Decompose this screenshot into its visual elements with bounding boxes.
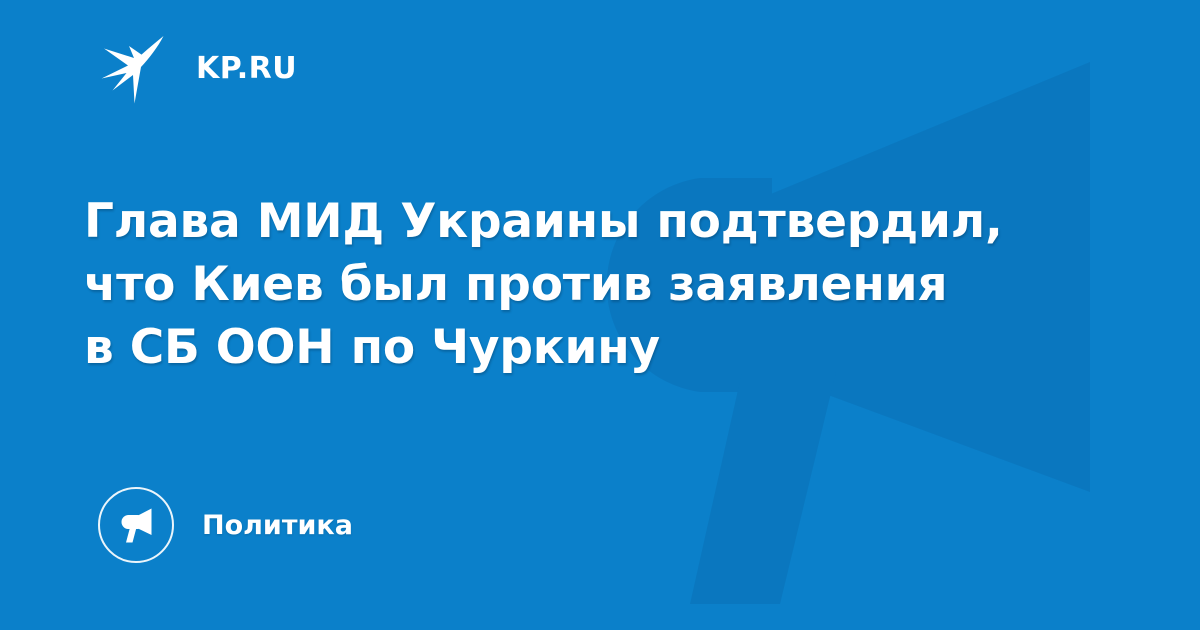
brand-label: KP.RU [196,54,297,84]
page-title: Глава МИД Украины подтвердил, что Киев б… [84,190,1094,379]
megaphone-icon [115,504,157,546]
swallow-bird-logo-icon [100,34,174,104]
share-card: KP.RU Глава МИД Украины подтвердил, что … [0,0,1200,630]
rubric-label: Политика [202,512,353,539]
rubric-badge [98,487,174,563]
headline-line-2: что Киев был против заявления [84,253,1094,316]
site-header: KP.RU [100,34,297,104]
headline-line-1: Глава МИД Украины подтвердил, [84,190,1094,253]
headline-line-3: в СБ ООН по Чуркину [84,316,1094,379]
rubric[interactable]: Политика [98,487,353,563]
